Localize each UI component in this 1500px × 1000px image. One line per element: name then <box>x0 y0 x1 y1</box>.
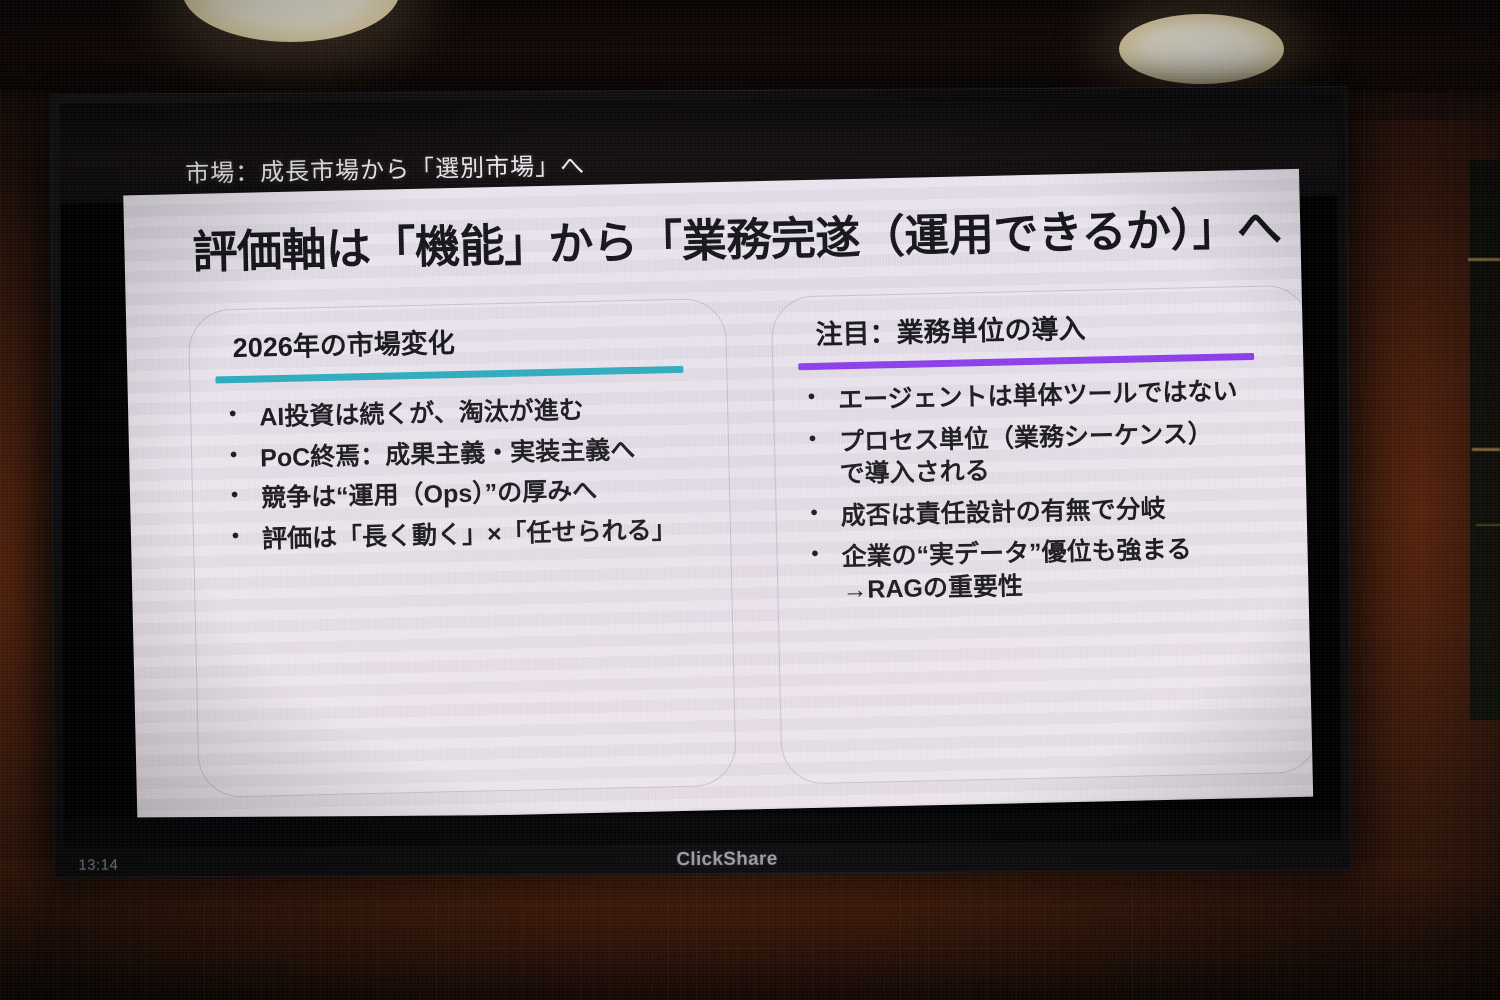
card-right-accent-rule <box>798 353 1254 370</box>
card-left-bullet-list: AI投資は続くが、淘汰が進む PoC終焉：成果主義・実装主義へ 競争は“運用（O… <box>221 391 709 564</box>
clickshare-branding: ClickShare <box>676 849 777 872</box>
bullet-text: 企業の“実データ”優位も強まる <box>841 535 1192 571</box>
bullet-text: プロセス単位（業務シーケンス） <box>839 419 1213 455</box>
bullet-text: 評価は「長く動く」×「任せられる」 <box>262 516 677 553</box>
list-item: 成否は責任設計の有無で分岐 <box>802 490 1291 534</box>
bullet-text: PoC終焉：成果主義・実装主義へ <box>260 435 636 472</box>
display-clock: 13:14 <box>78 857 118 874</box>
wall-seam <box>0 948 1500 949</box>
wall-warm-glow-bottom <box>0 860 1500 1000</box>
display-screen: 市場：成長市場から「選別市場」へ AI inside 評価軸は「機能」から「業務… <box>60 96 1342 848</box>
bullet-text: 成否は責任設計の有無で分岐 <box>840 494 1166 529</box>
wall-seam <box>0 905 1500 906</box>
right-wall-panel <box>1470 160 1500 720</box>
slide-canvas: 評価軸は「機能」から「業務完遂（運用できるか）」へ 2026年の市場変化 AI投… <box>123 169 1313 824</box>
wall-light-sliver <box>1472 448 1500 451</box>
card-business-unit-adoption: 注目：業務単位の導入 エージェントは単体ツールではない プロセス単位（業務シーケ… <box>771 285 1313 785</box>
bullet-text: エージェントは単体ツールではない <box>838 377 1238 414</box>
card-left-title: 2026年の市場変化 <box>232 321 455 365</box>
wall-light-sliver <box>1468 258 1500 261</box>
card-right-bullet-list: エージェントは単体ツールではない プロセス単位（業務シーケンス） で導入される … <box>800 374 1293 616</box>
list-item: AI投資は続くが、淘汰が進む <box>221 391 706 434</box>
list-item: PoC終焉：成果主義・実装主義へ <box>222 432 707 475</box>
slide-main-title: 評価軸は「機能」から「業務完遂（運用できるか）」へ <box>192 191 1282 281</box>
ceiling-light-right <box>1119 14 1284 84</box>
wall-light-sliver <box>1476 524 1500 526</box>
list-item: プロセス単位（業務シーケンス） で導入される <box>801 416 1290 492</box>
list-item: 評価は「長く動く」×「任せられる」 <box>224 513 709 556</box>
bullet-continuation: →RAGの重要性 <box>842 564 1293 607</box>
presentation-display: 市場：成長市場から「選別市場」へ AI inside 評価軸は「機能」から「業務… <box>50 86 1352 878</box>
bullet-text: 競争は“運用（Ops）”の厚みへ <box>261 477 598 513</box>
bullet-text: AI投資は続くが、淘汰が進む <box>259 396 584 431</box>
card-market-change-2026: 2026年の市場変化 AI投資は続くが、淘汰が進む PoC終焉：成果主義・実装主… <box>188 298 737 798</box>
conference-room-scene: 市場：成長市場から「選別市場」へ AI inside 評価軸は「機能」から「業務… <box>0 0 1500 1000</box>
list-item: エージェントは単体ツールではない <box>800 374 1289 418</box>
card-right-title: 注目：業務単位の導入 <box>815 307 1086 352</box>
card-left-accent-rule <box>215 366 683 384</box>
list-item: 競争は“運用（Ops）”の厚みへ <box>223 472 708 515</box>
list-item: 企業の“実データ”優位も強まる →RAGの重要性 <box>803 531 1292 607</box>
